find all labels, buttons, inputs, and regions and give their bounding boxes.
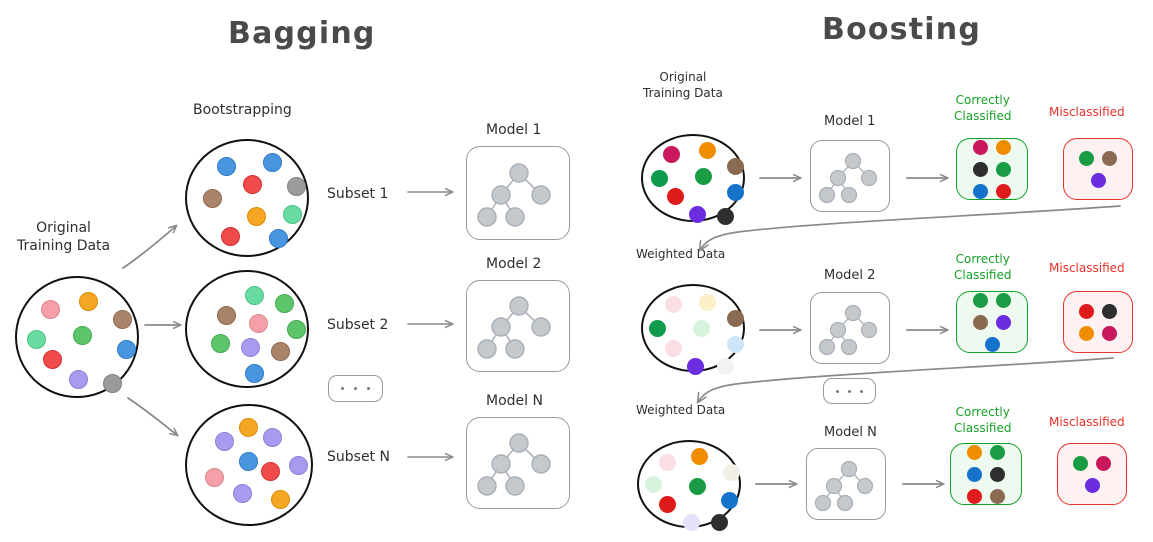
diagram-canvas: Bagging Boosting Bootstrapping Original … — [0, 0, 1153, 542]
arrows-layer — [0, 0, 1153, 542]
bagging-split-arrows — [123, 226, 180, 435]
boosting-feedback-arrows — [698, 206, 1120, 402]
bagging-subset-arrows — [408, 192, 452, 457]
boosting-forward-arrows — [756, 178, 947, 484]
